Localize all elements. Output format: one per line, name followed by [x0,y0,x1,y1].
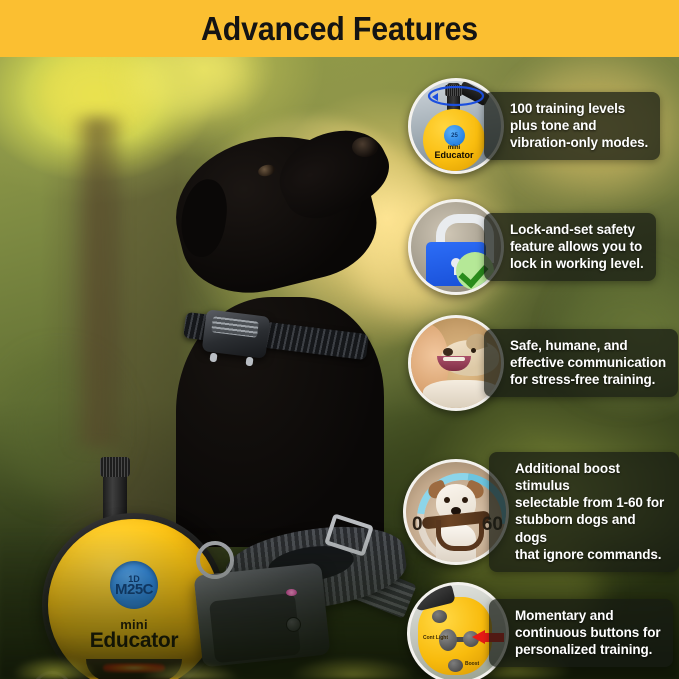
feature-line: Lock-and-set safety [510,221,644,238]
arrow-head [472,630,485,644]
remote-button-top [432,610,447,623]
feature-line: stubborn dogs and dogs [515,511,667,545]
leash-loop [436,520,484,551]
feature-callout-boost-stimulus: 0 60 Additional boost stimulus selectabl… [403,452,679,572]
bokeh-blob [130,57,240,117]
dog-eye [471,348,476,353]
tree-trunk [70,117,122,447]
feature-text-panel: 100 training levels plus tone and vibrat… [484,92,660,160]
feature-line: lock in working level. [510,255,644,272]
feature-callout-lock-and-set: Lock-and-set safety feature allows you t… [408,199,679,295]
feature-text-panel: Momentary and continuous buttons for per… [489,599,673,667]
feature-line: continuous buttons for [515,624,661,641]
gauge-min-label: 0 [412,514,423,536]
dog-teeth [443,357,465,361]
feature-callout-safe-humane: Safe, humane, and effective communicatio… [408,315,679,411]
remote-button-label-boost: Boost [465,661,479,667]
feature-callout-training-levels: 25 mini Educator 100 training levels plu… [408,78,679,174]
feature-text-panel: Additional boost stimulus selectable fro… [489,452,679,572]
feature-text-panel: Lock-and-set safety feature allows you t… [484,213,656,281]
page-title: Advanced Features [27,0,652,57]
header-banner: Advanced Features [0,0,679,57]
antenna-knurl [100,457,130,477]
feature-line: feature allows you to [510,238,644,255]
feature-line: vibration-only modes. [510,134,648,151]
remote-button-label-cont: Cont Light [423,636,448,641]
feature-line: Safe, humane, and [510,337,666,354]
feature-line: Momentary and [515,607,661,624]
feature-line: Additional boost stimulus [515,460,667,494]
feature-line: 100 training levels [510,100,648,117]
dog-nose [352,137,378,157]
feature-line: personalized training. [515,641,661,658]
dog-nose [443,348,453,356]
background-photo: 1D M25C mini Educator [0,57,679,679]
feature-callout-momentary-continuous: Cont Light Boost Momentary and continuou… [407,582,679,679]
product-feature-graphic: 1D M25C mini Educator [0,0,679,679]
feature-text-panel: Safe, humane, and effective communicatio… [484,329,678,397]
feature-line: for stress-free training. [510,371,666,388]
dog-eye-right [462,497,468,503]
dog-eye-left [444,497,450,503]
remote-button-boost [448,659,463,672]
feature-line: that ignore commands. [515,546,667,563]
feature-line: selectable from 1-60 for [515,494,667,511]
feature-line: plus tone and [510,117,648,134]
feature-line: effective communication [510,354,666,371]
